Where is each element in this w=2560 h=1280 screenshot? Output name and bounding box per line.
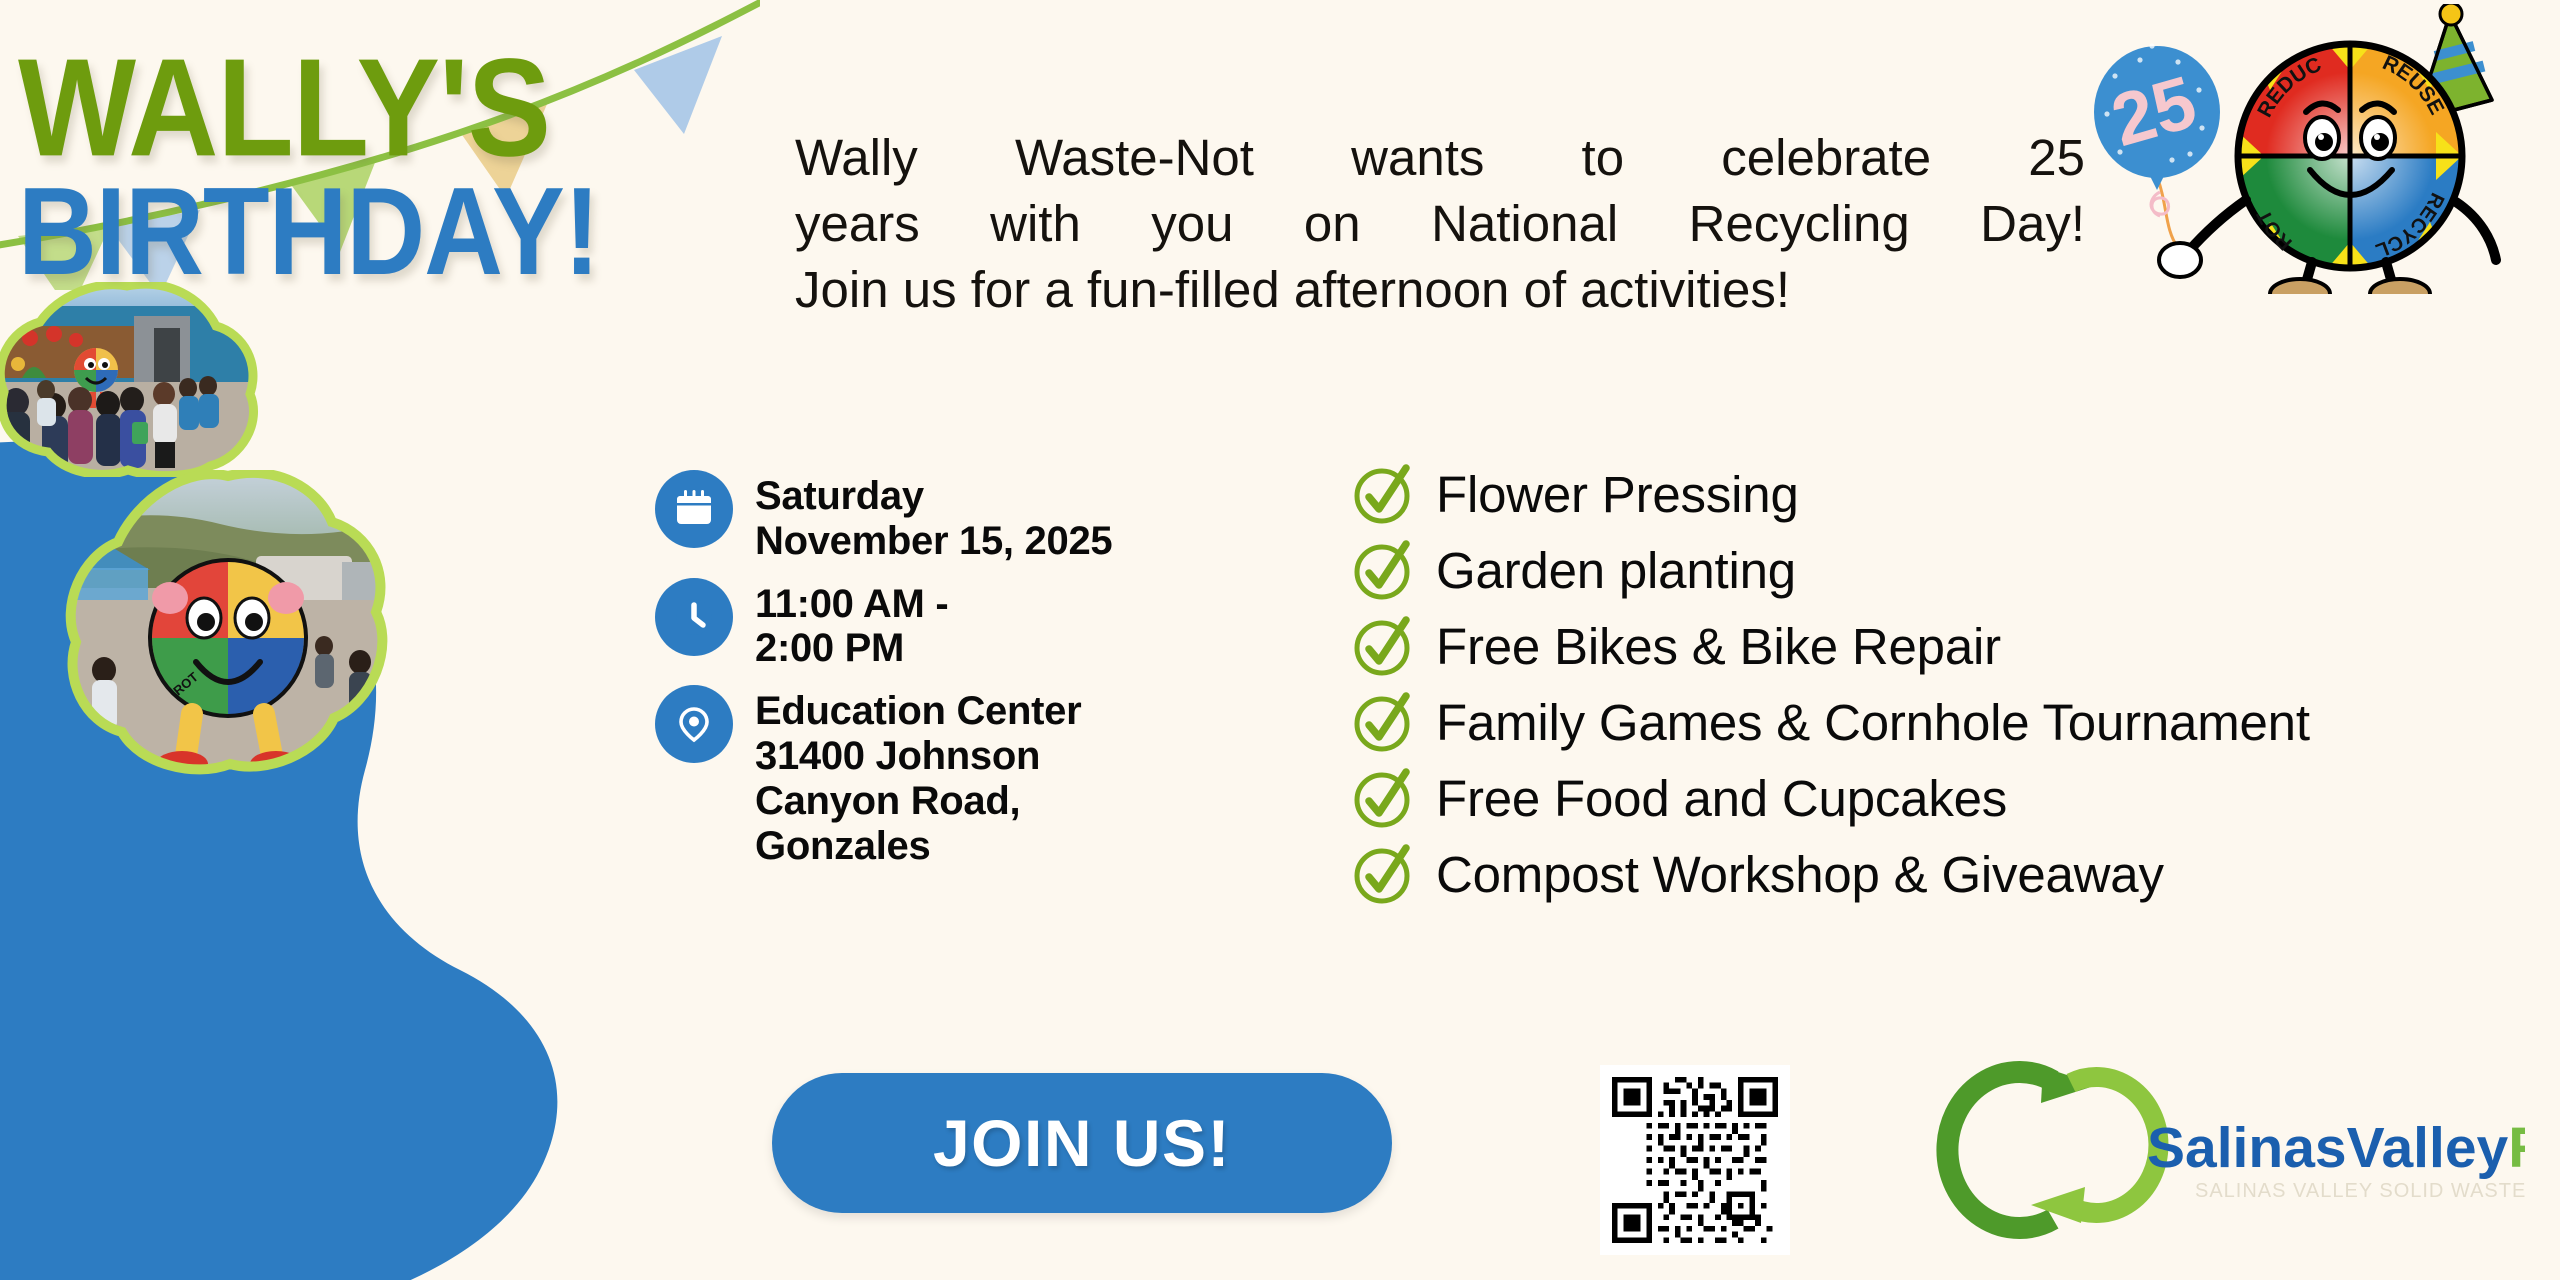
salinas-valley-recycles-logo[interactable]: SalinasValleyRecycles.org SALINAS VALLEY…	[1935, 1055, 2525, 1245]
activity-item: Free Food and Cupcakes	[1350, 764, 2310, 832]
activities-list: Flower Pressing Garden planting Free Bik…	[1350, 460, 2310, 916]
intro-paragraph: Wally Waste-Not wants to celebrate 25 ye…	[795, 125, 2085, 322]
activity-item: Family Games & Cornhole Tournament	[1350, 688, 2310, 756]
qr-code[interactable]	[1600, 1065, 1790, 1255]
recycle-arrows-icon	[1947, 1067, 2158, 1228]
svg-text:SalinasValleyRecycles.org: SalinasValleyRecycles.org	[2147, 1116, 2525, 1180]
date-line-2: November 15, 2025	[755, 519, 1112, 564]
activity-item: Flower Pressing	[1350, 460, 2310, 528]
detail-row-time: 11:00 AM - 2:00 PM	[655, 578, 1112, 672]
activity-label: Compost Workshop & Giveaway	[1436, 849, 2164, 900]
loc-line-1: Education Center	[755, 689, 1081, 734]
photo-crowd-mural	[0, 282, 262, 477]
date-line-1: Saturday	[755, 474, 1112, 519]
intro-line-1: Wally Waste-Not wants to celebrate 25	[795, 125, 2085, 191]
activity-item: Free Bikes & Bike Repair	[1350, 612, 2310, 680]
join-us-label: JOIN US!	[933, 1105, 1231, 1181]
check-circle-icon	[1350, 764, 1418, 832]
detail-text-time: 11:00 AM - 2:00 PM	[755, 578, 948, 672]
clock-icon	[655, 578, 733, 656]
activity-item: Garden planting	[1350, 536, 2310, 604]
photo-wally-mascot-event: ROT	[60, 470, 395, 780]
wally-waste-not-mascot: 25	[2060, 4, 2560, 294]
detail-row-date: Saturday November 15, 2025	[655, 470, 1112, 564]
check-circle-icon	[1350, 536, 1418, 604]
flyer-canvas: WALLY'S BIRTHDAY! Wally Waste-Not wants …	[0, 0, 2560, 1280]
activity-label: Family Games & Cornhole Tournament	[1436, 697, 2310, 748]
detail-text-location: Education Center 31400 Johnson Canyon Ro…	[755, 685, 1081, 868]
loc-line-4: Gonzales	[755, 824, 1081, 869]
event-details: Saturday November 15, 2025 11:00 AM - 2:…	[655, 470, 1112, 882]
intro-line-2: years with you on National Recycling Day…	[795, 191, 2085, 257]
logo-tagline: SALINAS VALLEY SOLID WASTE AUTHORITY	[2195, 1180, 2525, 1202]
activity-label: Flower Pressing	[1436, 469, 1799, 520]
join-us-button[interactable]: JOIN US!	[772, 1073, 1392, 1213]
intro-line-3: Join us for a fun-filled afternoon of ac…	[795, 257, 2085, 323]
balloon-25-icon: 25	[2094, 43, 2220, 190]
activity-label: Free Bikes & Bike Repair	[1436, 621, 2001, 672]
loc-line-2: 31400 Johnson	[755, 734, 1081, 779]
detail-text-date: Saturday November 15, 2025	[755, 470, 1112, 564]
logo-text-salinasvalley: SalinasValley	[2147, 1116, 2509, 1180]
flyer-title: WALLY'S BIRTHDAY!	[18, 48, 571, 269]
time-line-1: 11:00 AM -	[755, 582, 948, 627]
logo-text-recycles: Recycles	[2508, 1116, 2525, 1180]
check-circle-icon	[1350, 688, 1418, 756]
loc-line-3: Canyon Road,	[755, 779, 1081, 824]
title-line-birthday: BIRTHDAY!	[18, 178, 599, 288]
calendar-icon	[655, 470, 733, 548]
activity-label: Free Food and Cupcakes	[1436, 773, 2007, 824]
check-circle-icon	[1350, 840, 1418, 908]
detail-row-location: Education Center 31400 Johnson Canyon Ro…	[655, 685, 1112, 868]
time-line-2: 2:00 PM	[755, 626, 948, 671]
location-pin-icon	[655, 685, 733, 763]
activity-label: Garden planting	[1436, 545, 1796, 596]
check-circle-icon	[1350, 612, 1418, 680]
activity-item: Compost Workshop & Giveaway	[1350, 840, 2310, 908]
check-circle-icon	[1350, 460, 1418, 528]
title-line-wallys: WALLY'S	[18, 48, 605, 171]
